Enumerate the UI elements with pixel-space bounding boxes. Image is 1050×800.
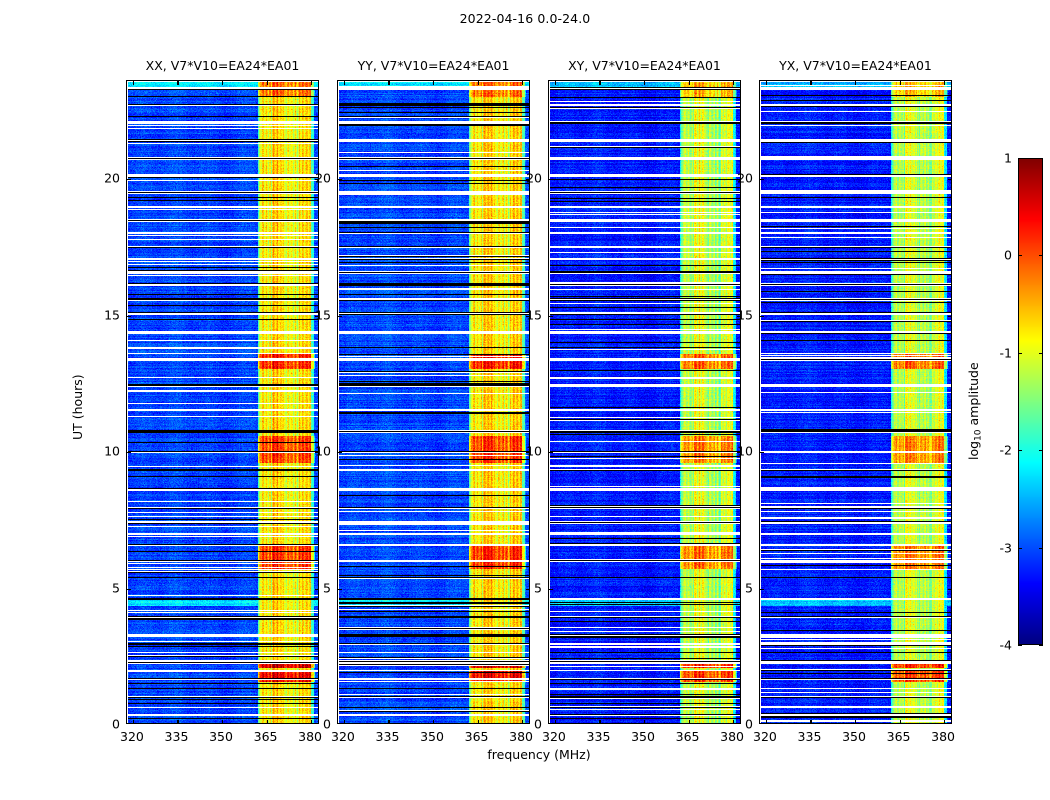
panel-yx-xtick [855, 720, 856, 724]
colorbar-tick-right [1039, 645, 1043, 646]
panel-xx-xtick-top [133, 81, 134, 85]
panel-xx-ytick [127, 316, 131, 317]
panel-xx-xticklabel: 335 [165, 729, 189, 744]
panel-xy-ytick [549, 452, 553, 453]
panel-yy-yticklabel: 5 [305, 580, 331, 595]
panel-xx-xticklabel: 350 [209, 729, 233, 744]
panel-yx-ytick [760, 589, 764, 590]
panel-yx-ytick-right [948, 452, 952, 453]
panel-yy-ytick [338, 179, 342, 180]
panel-yy-yticklabel: 0 [305, 717, 331, 732]
colorbar-tick [1018, 548, 1022, 549]
panel-yx-xtick [900, 720, 901, 724]
panel-yx-xtick-top [944, 81, 945, 85]
panel-xx-xticklabel: 365 [254, 729, 278, 744]
panel-xy-ytick [549, 316, 553, 317]
panel-yy-yticklabel: 15 [305, 307, 331, 322]
panel-yx-xtick-top [766, 81, 767, 85]
panel-yy-axes[interactable] [337, 80, 530, 724]
panel-xy-axes[interactable] [548, 80, 741, 724]
panel-xy-title: XY, V7*V10=EA24*EA01 [548, 58, 741, 73]
panel-yx-yticklabel: 5 [727, 580, 753, 595]
panel-yy-ytick [338, 589, 342, 590]
panel-yx-xtick [766, 720, 767, 724]
panel-xy-xtick-top [599, 81, 600, 85]
panel-yx-xtick-top [810, 81, 811, 85]
figure-canvas: 2022-04-16 0.0-24.0 XX, V7*V10=EA24*EA01… [0, 0, 1050, 800]
colorbar-ticklabel: -4 [982, 638, 1012, 653]
panel-xx-xtick-top [177, 81, 178, 85]
colorbar-frame [1018, 158, 1043, 645]
panel-xy-xtick-top [733, 81, 734, 85]
panel-yx-yticklabel: 10 [727, 444, 753, 459]
colorbar-tick [1018, 255, 1022, 256]
panel-yy-xticklabel: 320 [331, 729, 355, 744]
panel-xx-xtick-top [311, 81, 312, 85]
panel-yy-xticklabel: 335 [376, 729, 400, 744]
panel-xx-xtick [222, 720, 223, 724]
panel-xy-yticklabel: 0 [516, 717, 542, 732]
panel-yx-yticklabel: 20 [727, 171, 753, 186]
panel-yx-ytick [760, 179, 764, 180]
panel-yy-xticklabel: 350 [420, 729, 444, 744]
panel-yx-xticklabel: 350 [842, 729, 866, 744]
panel-xy-ytick [549, 179, 553, 180]
panel-yy-xtick [433, 720, 434, 724]
panel-xx-ytick [127, 589, 131, 590]
panel-yx-ytick-right [948, 316, 952, 317]
panel-xy-ytick [549, 589, 553, 590]
panel-yy-xticklabel: 365 [465, 729, 489, 744]
panel-xy-xticklabel: 350 [631, 729, 655, 744]
panel-xy-xtick [599, 720, 600, 724]
panel-xx-yticklabel: 0 [94, 717, 120, 732]
panel-yx-title: YX, V7*V10=EA24*EA01 [759, 58, 952, 73]
panel-xy-xtick-top [689, 81, 690, 85]
colorbar-tick [1018, 353, 1022, 354]
panel-yy-xtick [388, 720, 389, 724]
panel-yy-xtick-top [478, 81, 479, 85]
panel-xx-xtick [133, 720, 134, 724]
colorbar-tick-right [1039, 548, 1043, 549]
panel-xy-yticklabel: 10 [516, 444, 542, 459]
panel-xx-yticklabel: 5 [94, 580, 120, 595]
colorbar-tick-right [1039, 450, 1043, 451]
panel-yy-ytick [338, 452, 342, 453]
colorbar-tick-right [1039, 158, 1043, 159]
panel-xx-ytick [127, 179, 131, 180]
panel-yx-ytick [760, 316, 764, 317]
panel-yy-xtick-top [388, 81, 389, 85]
panel-xy-xtick-top [555, 81, 556, 85]
panel-xx-yticklabel: 10 [94, 444, 120, 459]
panel-xy-xtick [644, 720, 645, 724]
panel-xy-xtick-top [644, 81, 645, 85]
panel-yx-xtick [944, 720, 945, 724]
panel-xy-xtick [689, 720, 690, 724]
panel-xy-yticklabel: 20 [516, 171, 542, 186]
panel-xx-waterfall-image [128, 82, 319, 724]
panel-yy-xtick [478, 720, 479, 724]
panel-xy-xtick [555, 720, 556, 724]
panel-xx-xtick-top [222, 81, 223, 85]
colorbar-ticklabel: -3 [982, 540, 1012, 555]
panel-xy-waterfall-image [550, 82, 741, 724]
panel-xx-yticklabel: 20 [94, 171, 120, 186]
panel-yx-yticklabel: 0 [727, 717, 753, 732]
y-axis-label: UT (hours) [70, 374, 85, 440]
panel-xx-title: XX, V7*V10=EA24*EA01 [126, 58, 319, 73]
panel-yy-xtick-top [522, 81, 523, 85]
colorbar-tick-right [1039, 353, 1043, 354]
panel-yx-axes[interactable] [759, 80, 952, 724]
panel-yx-xtick-top [855, 81, 856, 85]
panel-yx-ytick-right [948, 179, 952, 180]
panel-xx-xtick [177, 720, 178, 724]
panel-yx-xticklabel: 335 [798, 729, 822, 744]
colorbar-axis-label: log10 amplitude [966, 362, 983, 460]
panel-yy-yticklabel: 20 [305, 171, 331, 186]
panel-yy-xtick-top [433, 81, 434, 85]
panel-yx-ytick-right [948, 589, 952, 590]
colorbar-ticklabel: 1 [982, 151, 1012, 166]
panel-xy-xticklabel: 365 [676, 729, 700, 744]
panel-yx-xtick-top [900, 81, 901, 85]
panel-xx-ytick [127, 452, 131, 453]
panel-yy-xtick [344, 720, 345, 724]
panel-xy-yticklabel: 15 [516, 307, 542, 322]
colorbar-label-subscript: 10 [973, 429, 983, 440]
colorbar-ticklabel: -1 [982, 345, 1012, 360]
panel-xx: XX, V7*V10=EA24*EA0132033535036538005101… [126, 80, 319, 724]
colorbar-label-main: amplitude [966, 362, 981, 425]
colorbar-tick [1018, 645, 1022, 646]
panel-yy-ytick [338, 316, 342, 317]
panel-yx-yticklabel: 15 [727, 307, 753, 322]
panel-yx-xticklabel: 380 [931, 729, 955, 744]
panel-yx-xticklabel: 365 [887, 729, 911, 744]
panel-yy-xtick-top [344, 81, 345, 85]
panel-xy: XY, V7*V10=EA24*EA0132033535036538005101… [548, 80, 741, 724]
colorbar [1018, 158, 1043, 645]
panel-xy-xticklabel: 320 [542, 729, 566, 744]
panel-yy: YY, V7*V10=EA24*EA0132033535036538005101… [337, 80, 530, 724]
panel-yx-xtick [810, 720, 811, 724]
panel-xy-xticklabel: 335 [587, 729, 611, 744]
colorbar-tick [1018, 450, 1022, 451]
panel-xx-xtick-top [267, 81, 268, 85]
panel-xx-axes[interactable] [126, 80, 319, 724]
panel-yx-ytick [760, 452, 764, 453]
panel-yy-title: YY, V7*V10=EA24*EA01 [337, 58, 530, 73]
panel-yx-waterfall-image [761, 82, 952, 724]
colorbar-ticklabel: -2 [982, 443, 1012, 458]
panel-yy-waterfall-image [339, 82, 530, 724]
colorbar-tick-right [1039, 255, 1043, 256]
colorbar-ticklabel: 0 [982, 248, 1012, 263]
panel-xy-yticklabel: 5 [516, 580, 542, 595]
panel-yx: YX, V7*V10=EA24*EA0132033535036538005101… [759, 80, 952, 724]
x-axis-label: frequency (MHz) [126, 747, 952, 762]
figure-suptitle: 2022-04-16 0.0-24.0 [0, 11, 1050, 26]
panel-xx-yticklabel: 15 [94, 307, 120, 322]
panel-xx-xtick [267, 720, 268, 724]
panel-xx-xticklabel: 320 [120, 729, 144, 744]
panel-yy-yticklabel: 10 [305, 444, 331, 459]
panel-yx-xticklabel: 320 [753, 729, 777, 744]
colorbar-label-prefix: log [966, 440, 981, 459]
colorbar-tick [1018, 158, 1022, 159]
